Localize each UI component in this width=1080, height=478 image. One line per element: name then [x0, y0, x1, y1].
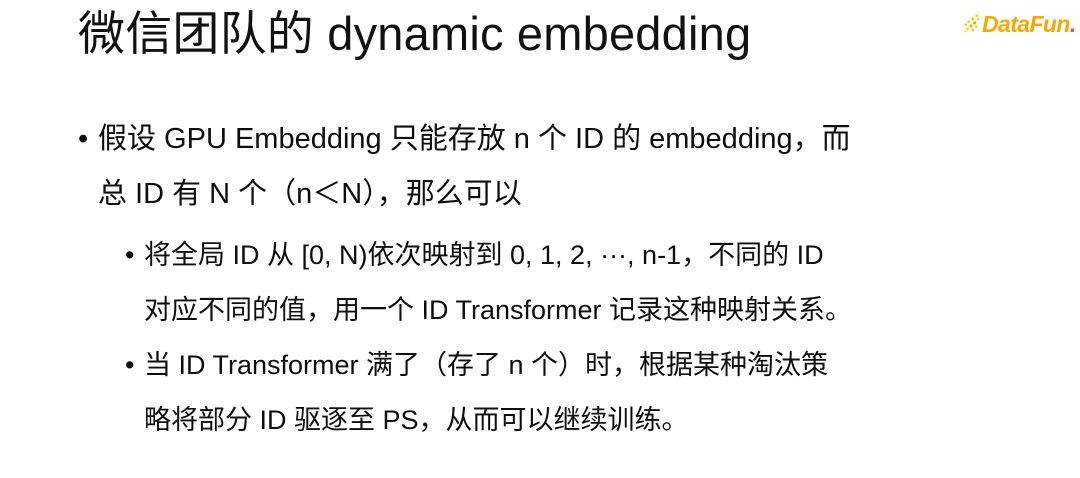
datafun-logo-text: DataFun.: [982, 11, 1076, 37]
bullet-marker: •: [125, 228, 144, 283]
list-item: • 当 ID Transformer 满了（存了 n 个）时，根据某种淘汰策 略…: [0, 338, 1080, 448]
list-item-text: 将全局 ID 从 [0, N)依次映射到 0, 1, 2, ···, n-1，不…: [125, 228, 1080, 338]
bullet-marker: •: [78, 112, 98, 167]
logo-text-data: DataFun: [982, 11, 1070, 37]
datafun-logo[interactable]: DataFun.: [964, 11, 1076, 37]
logo-text-suffix: .: [1070, 11, 1076, 37]
text-line: 当 ID Transformer 满了（存了 n 个）时，根据某种淘汰策: [144, 338, 1080, 393]
list-item-text: 假设 GPU Embedding 只能存放 n 个 ID 的 embedding…: [78, 112, 1080, 222]
list-item: • 将全局 ID 从 [0, N)依次映射到 0, 1, 2, ···, n-1…: [0, 228, 1080, 338]
scattered-squares-icon: [964, 14, 984, 34]
list-item-text: 当 ID Transformer 满了（存了 n 个）时，根据某种淘汰策 略将部…: [125, 338, 1080, 448]
sub-list: • 将全局 ID 从 [0, N)依次映射到 0, 1, 2, ···, n-1…: [0, 228, 1080, 448]
text-line: 总 ID 有 N 个（n＜N），那么可以: [98, 167, 1080, 222]
slide-body: • 假设 GPU Embedding 只能存放 n 个 ID 的 embeddi…: [0, 112, 1080, 448]
text-line: 将全局 ID 从 [0, N)依次映射到 0, 1, 2, ···, n-1，不…: [144, 228, 1080, 283]
text-line: 假设 GPU Embedding 只能存放 n 个 ID 的 embedding…: [98, 112, 1080, 167]
text-line: 略将部分 ID 驱逐至 PS，从而可以继续训练。: [144, 393, 1080, 448]
text-line: 对应不同的值，用一个 ID Transformer 记录这种映射关系。: [144, 283, 1080, 338]
bullet-marker: •: [125, 338, 144, 393]
page-title: 微信团队的 dynamic embedding: [78, 4, 751, 64]
list-item: • 假设 GPU Embedding 只能存放 n 个 ID 的 embeddi…: [0, 112, 1080, 222]
slide-root: 微信团队的 dynamic embedding DataFun. • 假设 GP…: [0, 0, 1080, 478]
